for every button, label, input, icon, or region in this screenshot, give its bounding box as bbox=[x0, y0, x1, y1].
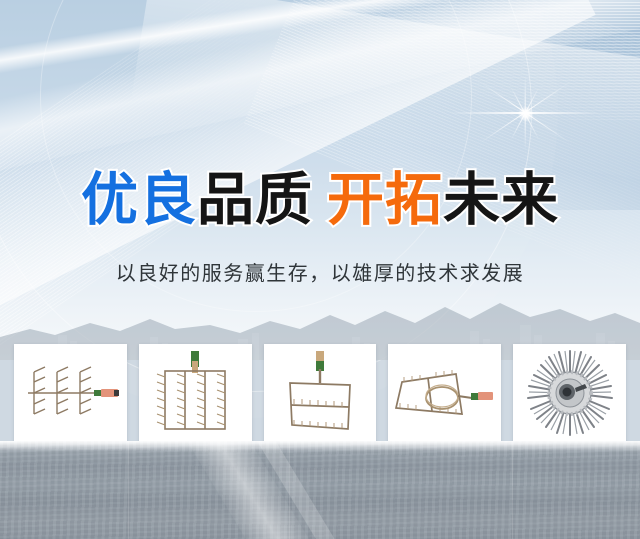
product-card-flat-panel-spike-rack[interactable] bbox=[264, 344, 377, 442]
product-thumbnail-row bbox=[14, 344, 626, 442]
headline-part-orange: 开拓 bbox=[327, 167, 443, 233]
star-flare-icon bbox=[525, 113, 527, 115]
mesh-texture-top bbox=[300, 0, 640, 120]
ground-seam-line-1 bbox=[128, 441, 129, 539]
product-card-double-row-spike-rack[interactable] bbox=[139, 344, 252, 442]
headline-part-blue: 优良 bbox=[81, 167, 197, 233]
product-card-branched-skewer-rack[interactable] bbox=[14, 344, 127, 442]
ground-seam-line-2 bbox=[289, 441, 290, 539]
headline-part-black-1: 品质 bbox=[197, 167, 313, 233]
ground-seam-line-3 bbox=[512, 441, 513, 539]
radial-sunburst-skewer-wheel-icon bbox=[525, 348, 615, 438]
page-title: 优良品质开拓未来 bbox=[0, 168, 640, 232]
headline-part-black-2: 未来 bbox=[443, 167, 559, 233]
ground-horizon-highlight bbox=[0, 441, 640, 451]
promo-banner: 优良品质开拓未来 以良好的服务赢生存，以雄厚的技术求发展 bbox=[0, 0, 640, 539]
double-row-spike-rack-icon bbox=[152, 349, 238, 437]
product-card-radial-sunburst-skewer-wheel[interactable] bbox=[513, 344, 626, 442]
page-subtitle: 以良好的服务赢生存，以雄厚的技术求发展 bbox=[0, 257, 640, 286]
ground-surface bbox=[0, 441, 640, 539]
product-card-round-hoop-flat-rack[interactable] bbox=[388, 344, 501, 442]
branched-skewer-rack-icon bbox=[18, 354, 122, 432]
flat-panel-spike-rack-icon bbox=[278, 349, 362, 437]
round-hoop-flat-rack-icon bbox=[392, 360, 498, 426]
